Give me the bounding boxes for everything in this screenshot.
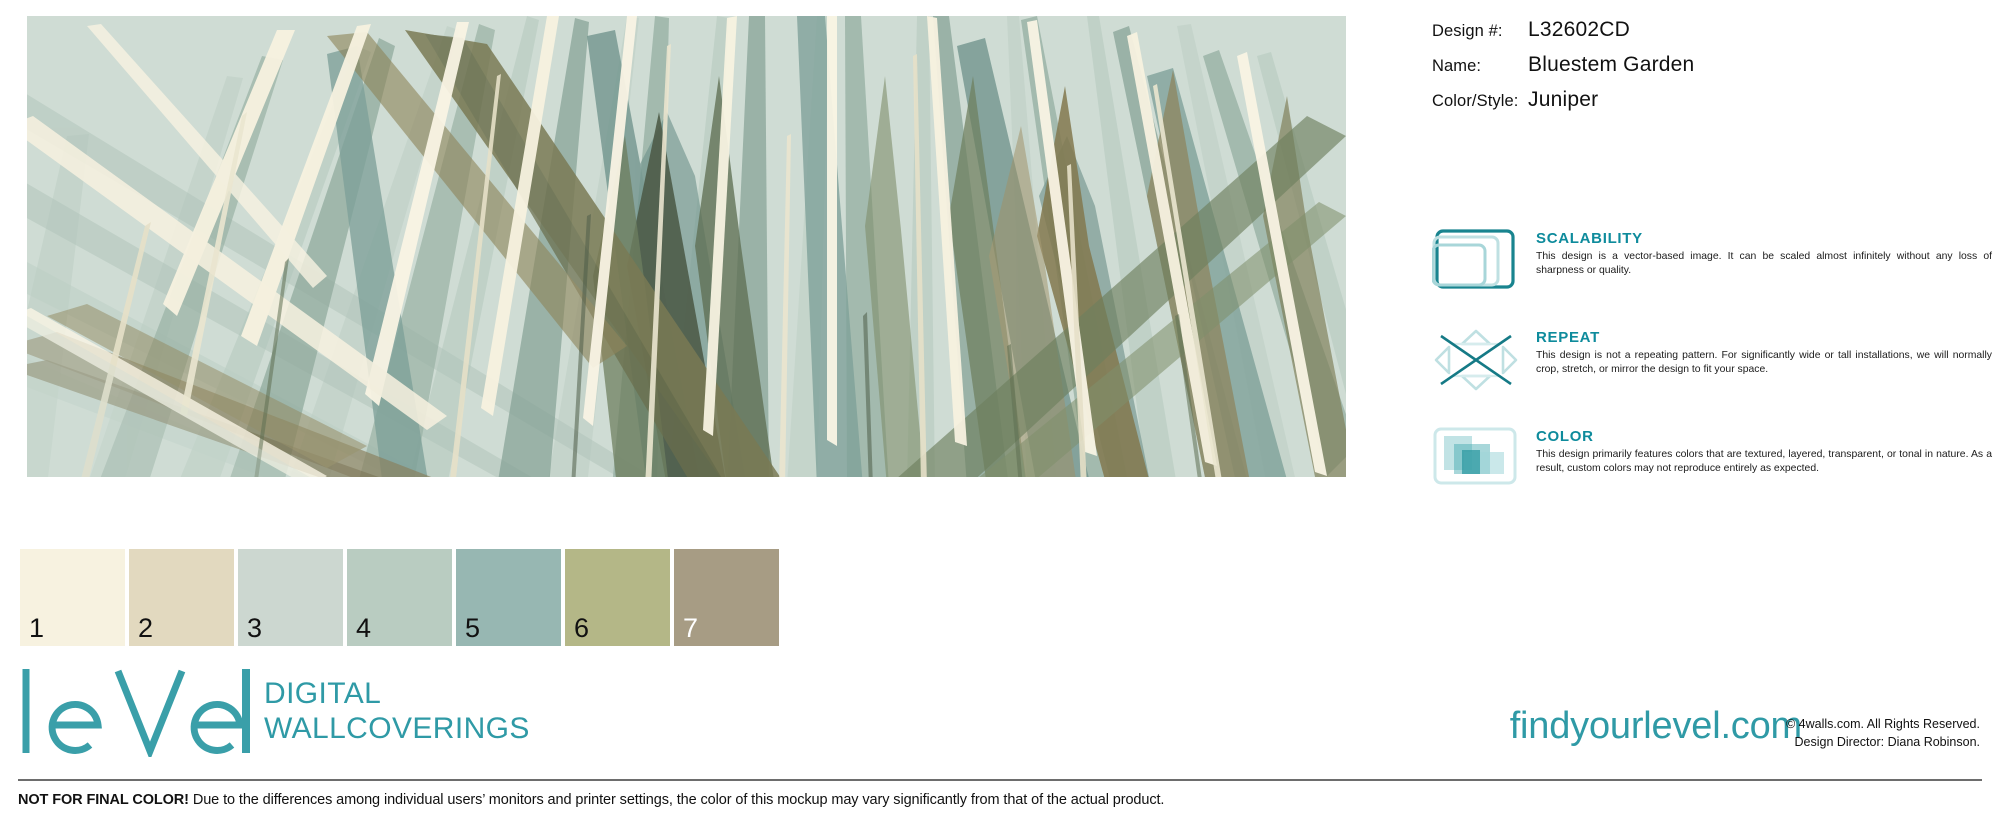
swatch-3-number: 3	[247, 615, 262, 642]
design-spec-table: Design #: L32602CD Name: Bluestem Garden…	[1432, 18, 1972, 123]
feature-scalability-body: SCALABILITY This design is a vector-base…	[1536, 228, 1992, 277]
spec-row-color-style: Color/Style: Juniper	[1432, 88, 1972, 112]
swatch-1-number: 1	[29, 615, 44, 642]
swatch-7[interactable]: 7	[674, 549, 779, 646]
color-icon	[1432, 426, 1524, 496]
swatch-6[interactable]: 6	[565, 549, 670, 646]
spec-label-color-style: Color/Style:	[1432, 92, 1528, 111]
copyright-line-1: © 4walls.com. All Rights Reserved.	[1786, 715, 1980, 733]
copyright-block: © 4walls.com. All Rights Reserved. Desig…	[1786, 715, 1980, 751]
design-artwork	[27, 16, 1346, 477]
level-wordmark-icon	[18, 665, 250, 757]
feature-scalability: SCALABILITY This design is a vector-base…	[1432, 228, 1992, 298]
disclaimer-strong: NOT FOR FINAL COLOR!	[18, 792, 189, 808]
feature-list: SCALABILITY This design is a vector-base…	[1432, 228, 1992, 525]
feature-repeat-title: REPEAT	[1536, 330, 1992, 346]
repeat-icon	[1432, 327, 1524, 397]
feature-color-desc: This design primarily features colors th…	[1536, 448, 1992, 476]
feature-color: COLOR This design primarily features col…	[1432, 426, 1992, 496]
spec-value-color-style: Juniper	[1528, 88, 1598, 112]
spec-value-name: Bluestem Garden	[1528, 53, 1694, 77]
spec-label-name: Name:	[1432, 57, 1528, 76]
feature-scalability-desc: This design is a vector-based image. It …	[1536, 250, 1992, 278]
mockup-page: Design #: L32602CD Name: Bluestem Garden…	[0, 0, 2000, 827]
feature-repeat-desc: This design is not a repeating pattern. …	[1536, 349, 1992, 377]
footer-divider	[18, 779, 1982, 781]
swatch-4[interactable]: 4	[347, 549, 452, 646]
spec-row-design-number: Design #: L32602CD	[1432, 18, 1972, 42]
feature-color-body: COLOR This design primarily features col…	[1536, 426, 1992, 475]
color-swatch-row: 1 2 3 4 5 6 7	[16, 549, 1336, 649]
logo-subtitle: DIGITAL WALLCOVERINGS	[264, 676, 530, 747]
swatch-3[interactable]: 3	[238, 549, 343, 646]
swatch-5-number: 5	[465, 615, 480, 642]
brand-logo: DIGITAL WALLCOVERINGS	[18, 665, 530, 757]
swatch-2[interactable]: 2	[129, 549, 234, 646]
feature-scalability-title: SCALABILITY	[1536, 231, 1992, 247]
swatch-6-number: 6	[574, 615, 589, 642]
logo-subtitle-line1: DIGITAL	[264, 676, 530, 711]
spec-value-design-number: L32602CD	[1528, 18, 1630, 42]
spec-label-design-number: Design #:	[1432, 22, 1528, 41]
feature-repeat-body: REPEAT This design is not a repeating pa…	[1536, 327, 1992, 376]
swatch-7-number: 7	[683, 615, 698, 642]
feature-repeat: REPEAT This design is not a repeating pa…	[1432, 327, 1992, 397]
website-url[interactable]: findyourlevel.com	[1510, 705, 1802, 748]
spec-row-name: Name: Bluestem Garden	[1432, 53, 1972, 77]
swatch-2-number: 2	[138, 615, 153, 642]
logo-subtitle-line2: WALLCOVERINGS	[264, 711, 530, 746]
copyright-line-2: Design Director: Diana Robinson.	[1786, 733, 1980, 751]
disclaimer-text: NOT FOR FINAL COLOR! Due to the differen…	[18, 792, 1164, 808]
disclaimer-rest: Due to the differences among individual …	[189, 792, 1164, 808]
swatch-4-number: 4	[356, 615, 371, 642]
feature-color-title: COLOR	[1536, 429, 1992, 445]
swatch-1[interactable]: 1	[20, 549, 125, 646]
scalability-icon	[1432, 228, 1524, 298]
swatch-5[interactable]: 5	[456, 549, 561, 646]
